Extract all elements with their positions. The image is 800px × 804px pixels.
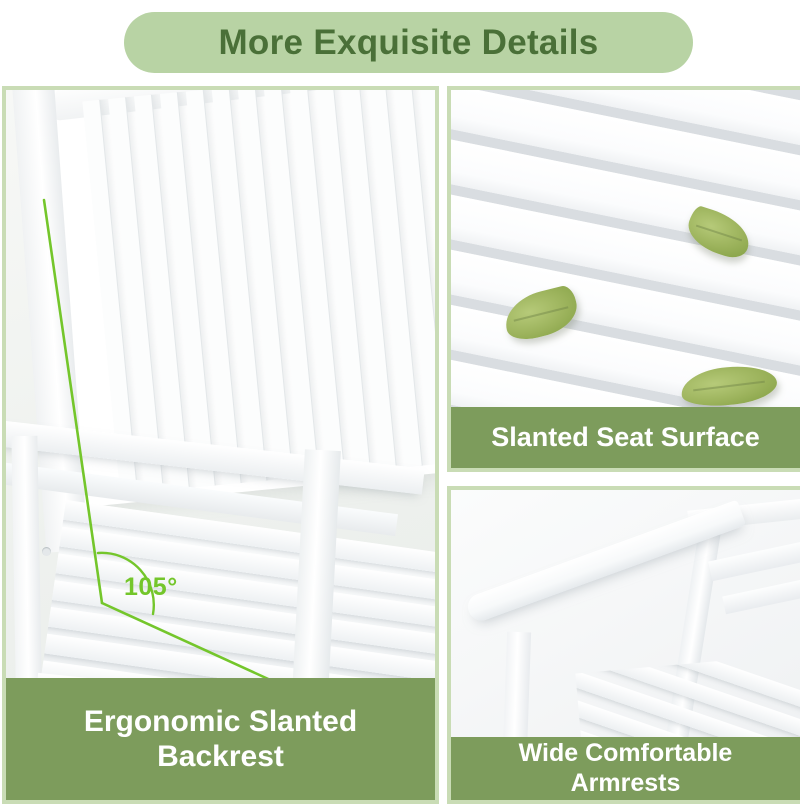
caption-line-2: Backrest [157, 739, 284, 774]
backrest-slat-group [82, 90, 435, 495]
product-detail-infographic: More Exquisite Details 105° [0, 0, 800, 800]
panel-ergonomic-slanted-backrest: 105° Ergonomic Slanted Backrest [2, 86, 439, 804]
panel-wide-comfortable-armrests: Wide Comfortable Armrests [447, 486, 800, 804]
caption-line-2: Armrests [571, 769, 681, 799]
header-banner: More Exquisite Details [124, 12, 693, 73]
backrest-slat [722, 576, 800, 614]
caption-ergonomic-slanted-backrest: Ergonomic Slanted Backrest [6, 678, 435, 800]
backrest-slat [708, 539, 800, 581]
page-title: More Exquisite Details [218, 25, 598, 60]
screw-detail [42, 547, 51, 556]
caption-line-1: Wide Comfortable [519, 739, 733, 769]
angle-value-label: 105° [124, 573, 178, 602]
caption-line-1: Slanted Seat Surface [491, 422, 760, 454]
caption-line-1: Ergonomic Slanted [84, 704, 357, 739]
caption-wide-comfortable-armrests: Wide Comfortable Armrests [451, 737, 800, 800]
panel-slanted-seat-surface: Slanted Seat Surface [447, 86, 800, 472]
caption-slanted-seat-surface: Slanted Seat Surface [451, 407, 800, 468]
